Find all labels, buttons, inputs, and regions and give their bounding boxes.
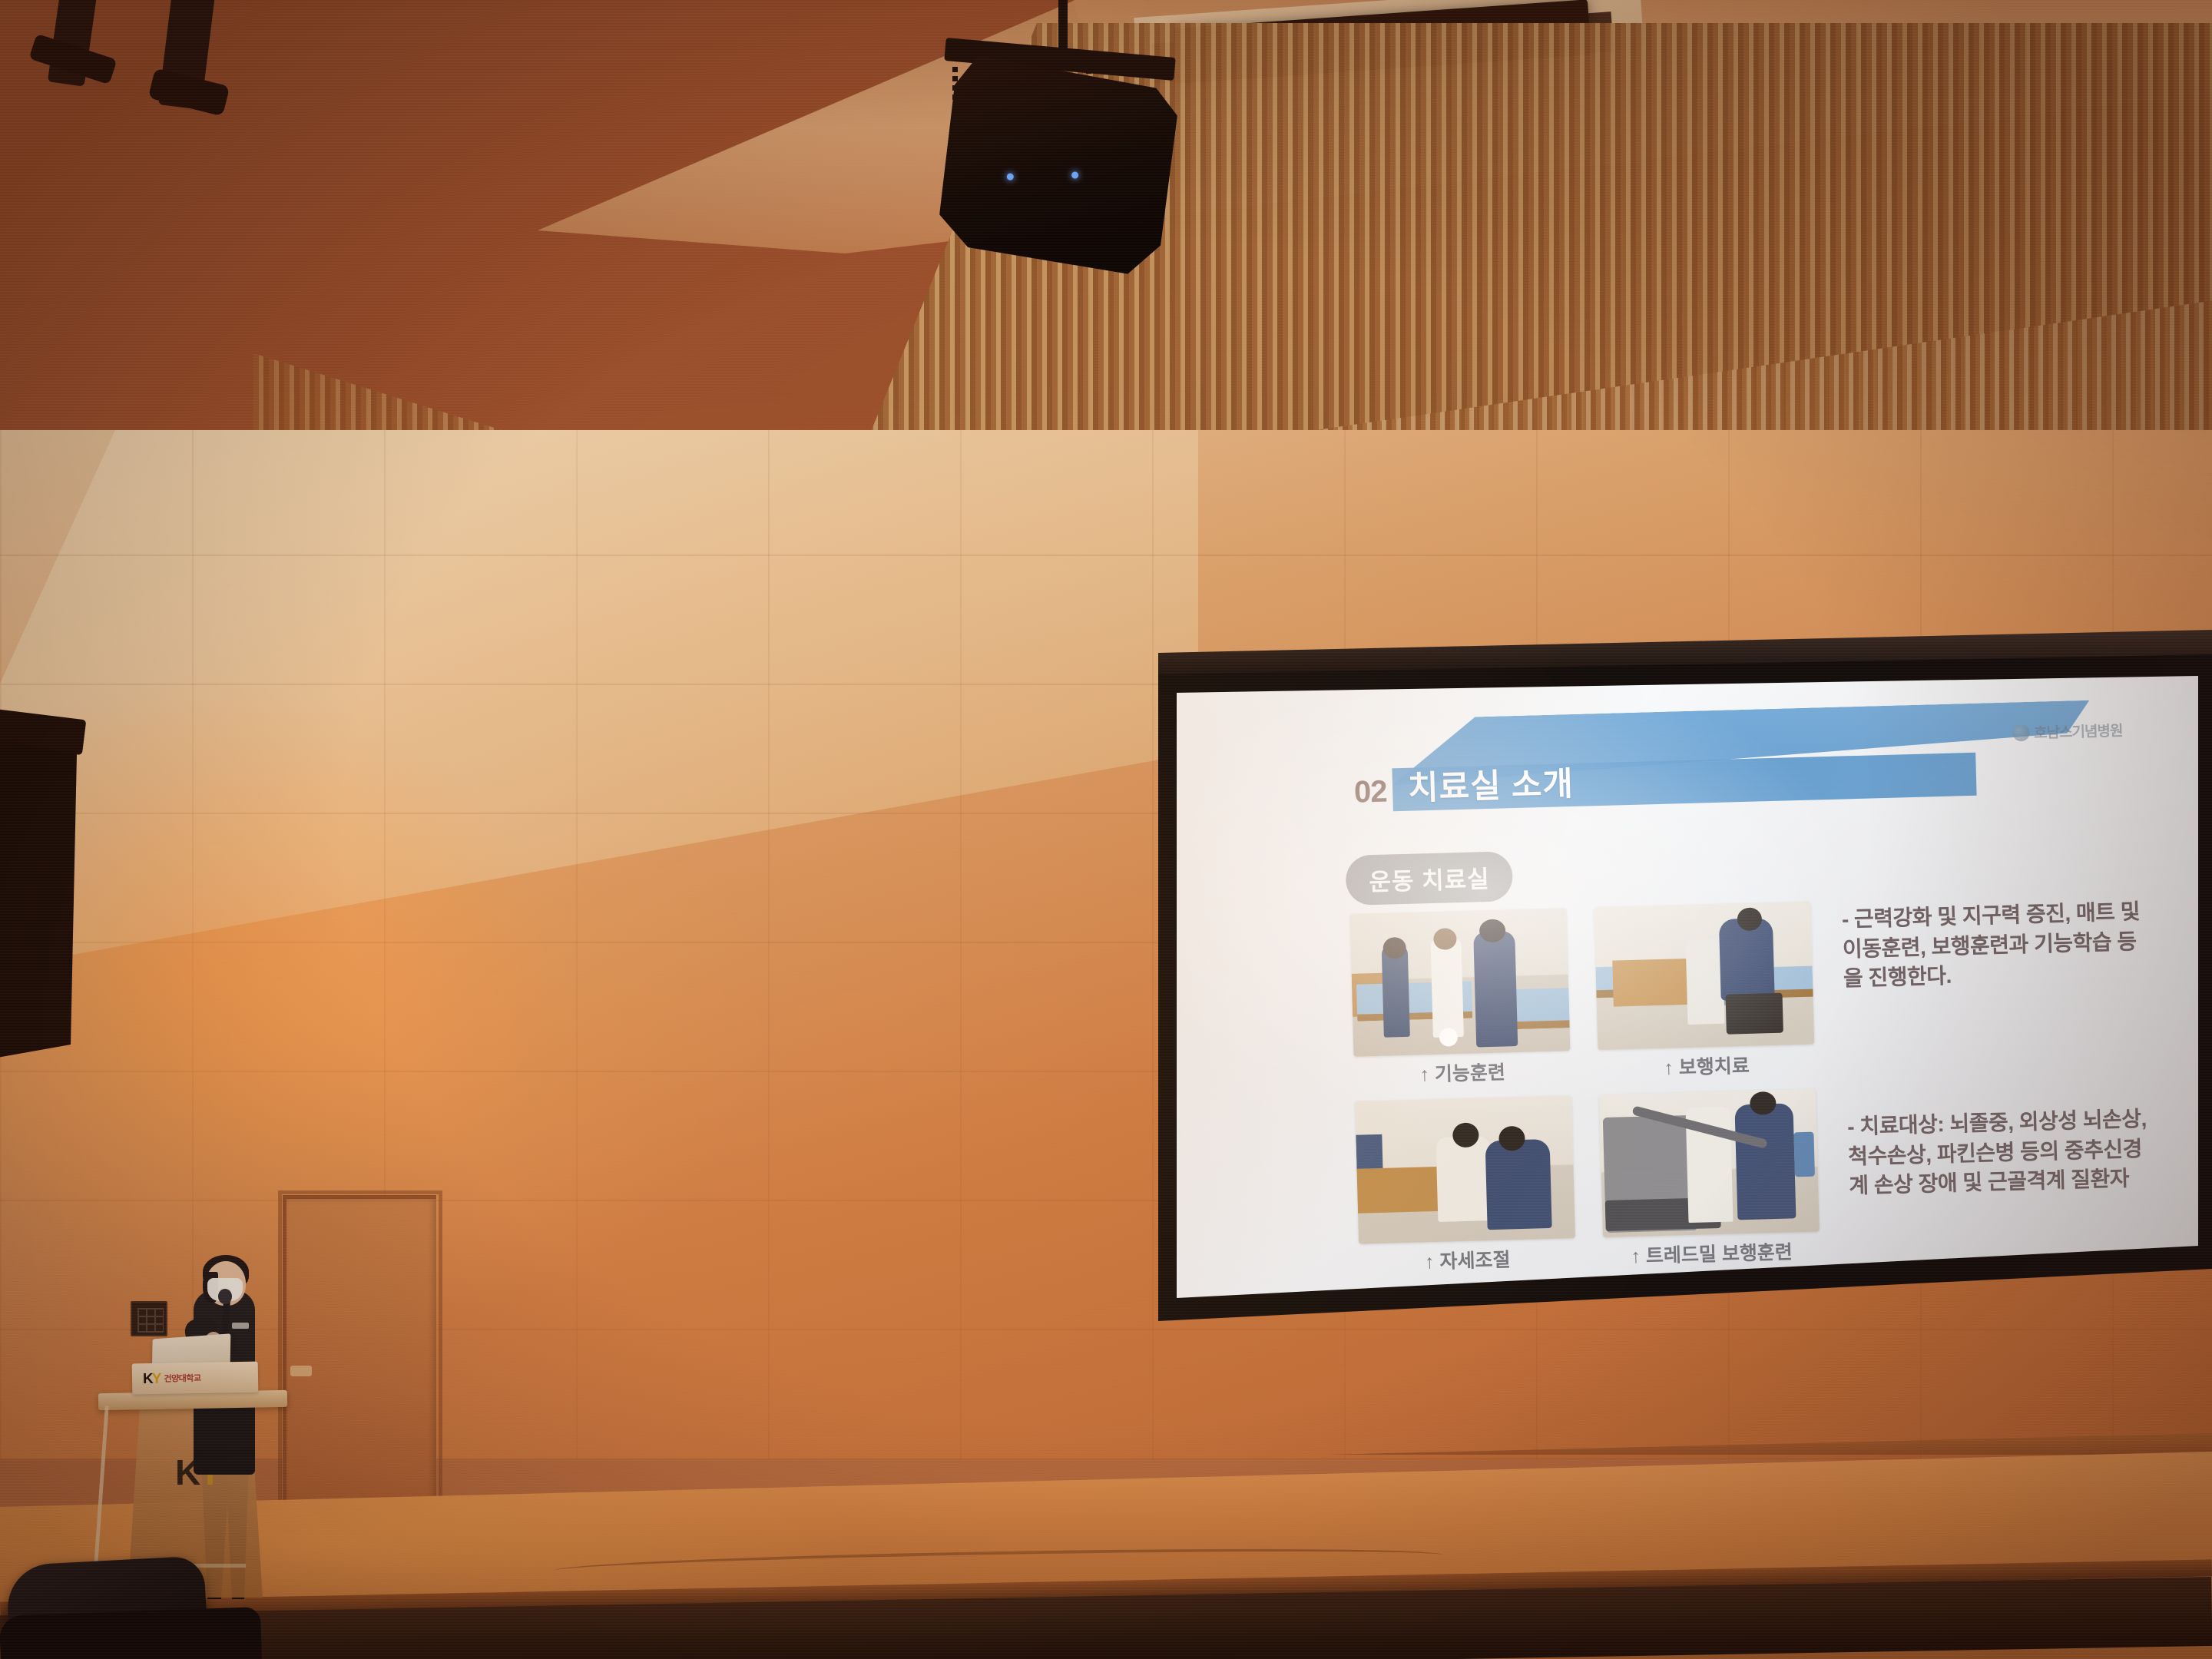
ceiling-speaker	[936, 54, 1181, 276]
podium-logo-name: 건양대학교	[164, 1372, 200, 1385]
photo-cell: ↑ 기능훈련	[1350, 908, 1571, 1089]
wall-control-panel[interactable]	[131, 1301, 167, 1336]
photo-caption: ↑ 트레드밀 보행훈련	[1603, 1236, 1820, 1270]
door-handle-icon[interactable]	[290, 1366, 312, 1376]
microphone-icon	[218, 1289, 232, 1304]
hospital-logo-mark-icon	[2012, 724, 2030, 741]
equipment-bag-shadow	[0, 1607, 262, 1659]
slide-photo-grid: ↑ 기능훈련 ↑ 보행치료	[1350, 902, 1821, 1289]
speaker-led-icon	[1006, 173, 1014, 180]
photo-treadmill-gait-training	[1599, 1089, 1820, 1238]
slide-text-block-description: - 근력강화 및 지구력 증진, 매트 및 이동훈련, 보행훈련과 기능학습 등…	[1841, 897, 2151, 995]
photo-caption: ↑ 자세조절	[1359, 1243, 1576, 1277]
photo-row-top: ↑ 기능훈련 ↑ 보행치료	[1350, 902, 1816, 1089]
photo-caption: ↑ 기능훈련	[1354, 1055, 1571, 1089]
slide-section-number: 02	[1346, 771, 1395, 813]
speaker-led-icon-2	[1071, 171, 1079, 179]
photo-gait-therapy	[1594, 902, 1814, 1051]
photo-caption: ↑ 보행치료	[1598, 1049, 1816, 1083]
presenter-pocket	[232, 1323, 249, 1329]
slide-text-block-target-patients: - 치료대상: 뇌졸중, 외상성 뇌손상, 척수손상, 파킨슨병 등의 중추신경…	[1847, 1104, 2157, 1202]
podium-logo-initials: KY	[143, 1371, 161, 1386]
auditorium-photo: 02 치료실 소개 호남스기념병원 운동 치료실 ↑ 기능	[0, 0, 2212, 1659]
hospital-logo: 호남스기념병원	[2012, 720, 2123, 743]
hospital-logo-text: 호남스기념병원	[2034, 720, 2123, 743]
photo-row-bottom: ↑ 자세조절 ↑ 트레드밀 보행훈련	[1355, 1089, 1820, 1277]
projection-screen: 02 치료실 소개 호남스기념병원 운동 치료실 ↑ 기능	[1177, 676, 2198, 1298]
slide-subsection-pill: 운동 치료실	[1345, 851, 1513, 906]
photo-cell: ↑ 자세조절	[1355, 1095, 1576, 1277]
presentation-slide: 02 치료실 소개 호남스기념병원 운동 치료실 ↑ 기능	[1210, 699, 2167, 1262]
podium-name-plate: KY 건양대학교	[132, 1362, 259, 1395]
photo-function-training	[1350, 908, 1571, 1057]
stage-door[interactable]	[283, 1195, 436, 1518]
photo-posture-control	[1355, 1095, 1575, 1244]
photo-cell: ↑ 트레드밀 보행훈련	[1599, 1089, 1820, 1270]
photo-cell: ↑ 보행치료	[1594, 902, 1815, 1083]
slide-title: 치료실 소개	[1407, 762, 1574, 811]
